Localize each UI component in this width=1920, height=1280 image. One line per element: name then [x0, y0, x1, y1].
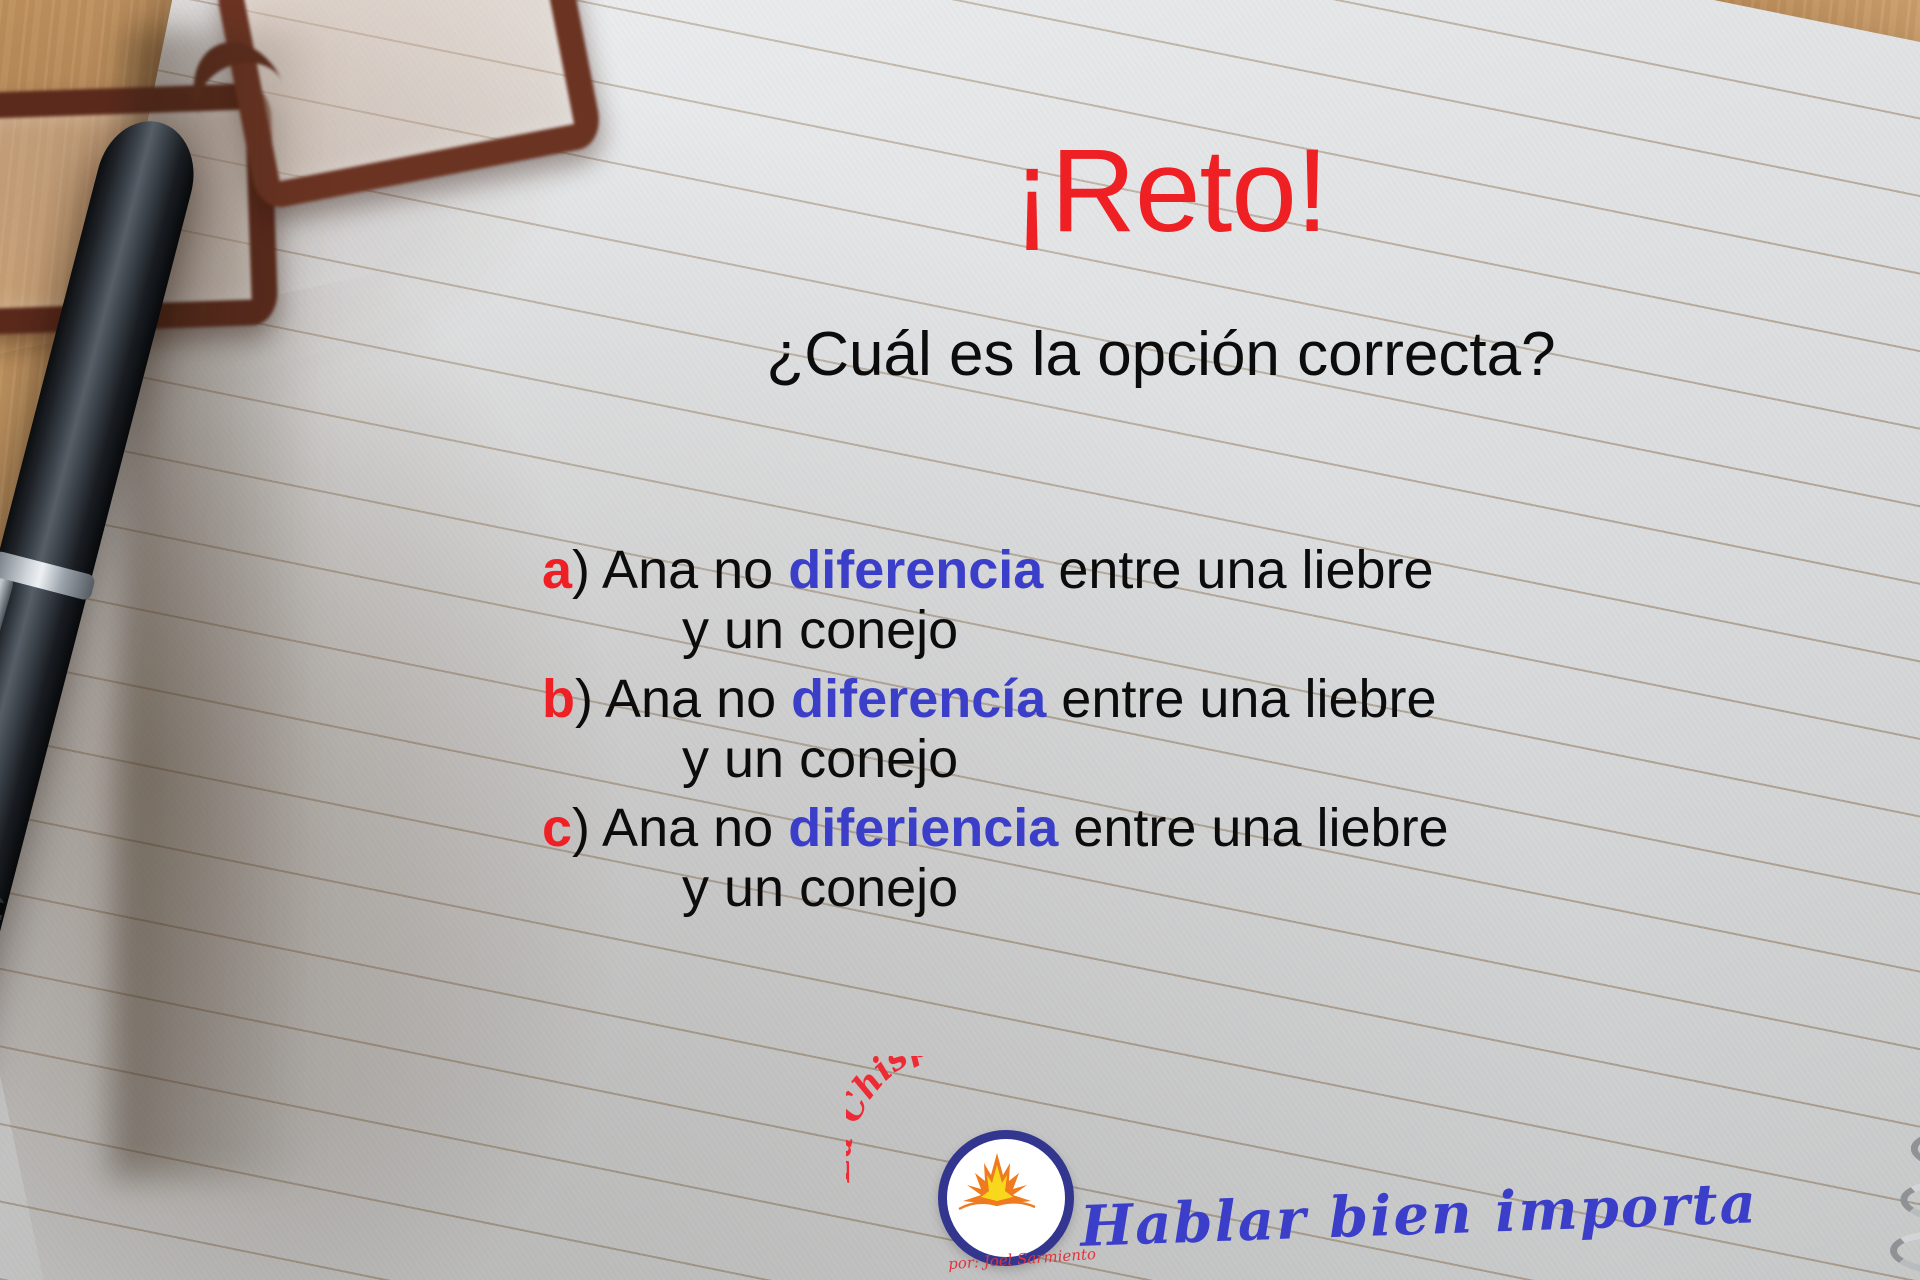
- option-text-after-c: entre una liebre: [1058, 798, 1448, 858]
- option-continuation-a: y un conejo: [682, 600, 1920, 660]
- option-text-before-b: Ana no: [593, 669, 791, 729]
- option-text-after-b: entre una liebre: [1046, 669, 1436, 729]
- question-prompt: ¿Cuál es la opción correcta?: [0, 322, 1892, 387]
- option-text-before-a: Ana no: [590, 540, 788, 600]
- option-continuation-b: y un conejo: [682, 729, 1920, 789]
- option-marker-c: c: [542, 798, 572, 858]
- option-marker-b: b: [542, 669, 575, 729]
- option-highlight-a: diferencia: [788, 540, 1043, 600]
- answer-option-a[interactable]: a) Ana no diferencia entre una liebre y …: [600, 540, 1920, 661]
- logo-circle-frame: [938, 1130, 1074, 1266]
- page-title: ¡Reto!: [0, 132, 1920, 250]
- option-paren-c: ): [572, 798, 590, 858]
- flame-icon: [947, 1139, 1047, 1239]
- option-paren-b: ): [575, 669, 593, 729]
- answer-option-c[interactable]: c) Ana no diferiencia entre una liebre y…: [600, 798, 1920, 919]
- option-marker-a: a: [542, 540, 572, 600]
- answer-option-b[interactable]: b) Ana no diferencía entre una liebre y …: [600, 669, 1920, 790]
- option-highlight-b: diferencía: [791, 669, 1046, 729]
- answer-options-list: a) Ana no diferencia entre una liebre y …: [600, 540, 1920, 927]
- option-text-before-c: Ana no: [590, 798, 788, 858]
- challenge-card: ¡Reto! ¿Cuál es la opción correcta? a) A…: [0, 0, 1920, 1280]
- brand-name-text: La Chispa: [846, 1056, 955, 1183]
- option-paren-a: ): [572, 540, 590, 600]
- option-continuation-c: y un conejo: [682, 858, 1920, 918]
- option-text-after-a: entre una liebre: [1043, 540, 1433, 600]
- option-highlight-c: diferiencia: [788, 798, 1058, 858]
